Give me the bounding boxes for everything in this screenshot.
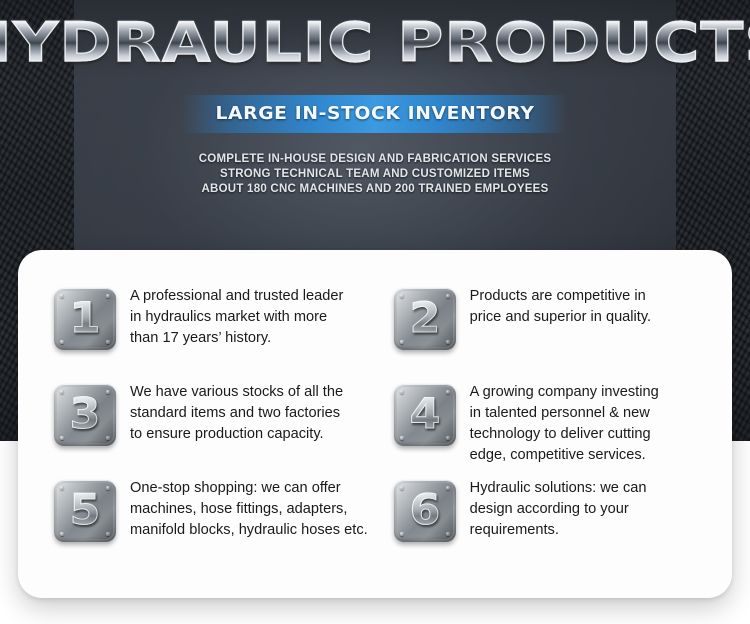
feature-text: One-stop shopping: we can offer machines… [130, 476, 368, 541]
feature-text: A growing company investing in talented … [470, 380, 659, 466]
number-plate-icon: 1 [54, 288, 116, 350]
features-card: 1 A professional and trusted leader in h… [18, 250, 732, 598]
feature-text-line: edge, competitive services. [470, 445, 659, 466]
feature-text: Hydraulic solutions: we can design accor… [470, 476, 647, 541]
inventory-stripe: LARGE IN-STOCK INVENTORY [182, 95, 568, 133]
feature-text-line: manifold blocks, hydraulic hoses etc. [130, 520, 368, 541]
subtitle-line: ABOUT 180 CNC MACHINES AND 200 TRAINED E… [0, 182, 750, 197]
feature-item: 4 A growing company investing in talente… [394, 380, 696, 470]
feature-text-line: design according to your [470, 499, 647, 520]
hydraulic-products-banner: HYDRAULIC PRODUCTS LARGE IN-STOCK INVENT… [0, 0, 750, 624]
feature-item: 6 Hydraulic solutions: we can design acc… [394, 476, 696, 566]
plate-number: 5 [52, 480, 117, 542]
plate-number: 2 [392, 288, 457, 350]
subtitle-line: STRONG TECHNICAL TEAM AND CUSTOMIZED ITE… [0, 167, 750, 182]
feature-text-line: One-stop shopping: we can offer [130, 478, 368, 499]
feature-item: 3 We have various stocks of all the stan… [54, 380, 368, 470]
feature-item: 2 Products are competitive in price and … [394, 284, 696, 374]
plate-number: 6 [392, 480, 457, 542]
feature-text-line: machines, hose fittings, adapters, [130, 499, 368, 520]
number-plate-icon: 5 [54, 480, 116, 542]
feature-text-line: to ensure production capacity. [130, 424, 343, 445]
number-plate-icon: 4 [394, 384, 456, 446]
feature-text: Products are competitive in price and su… [470, 284, 651, 328]
page-title: HYDRAULIC PRODUCTS [0, 14, 750, 72]
feature-item: 5 One-stop shopping: we can offer machin… [54, 476, 368, 566]
number-plate-icon: 3 [54, 384, 116, 446]
number-plate-icon: 2 [394, 288, 456, 350]
feature-text-line: standard items and two factories [130, 403, 343, 424]
feature-text-line: price and superior in quality. [470, 307, 651, 328]
number-plate-icon: 6 [394, 480, 456, 542]
plate-number: 4 [392, 384, 457, 446]
feature-text-line: A professional and trusted leader [130, 286, 343, 307]
inventory-stripe-label: LARGE IN-STOCK INVENTORY [174, 95, 575, 133]
feature-text-line: requirements. [470, 520, 647, 541]
plate-number: 1 [52, 288, 117, 350]
feature-text-line: A growing company investing [470, 382, 659, 403]
feature-text-line: We have various stocks of all the [130, 382, 343, 403]
feature-text-line: Hydraulic solutions: we can [470, 478, 647, 499]
feature-text-line: Products are competitive in [470, 286, 651, 307]
feature-text: We have various stocks of all the standa… [130, 380, 343, 445]
feature-text-line: technology to deliver cutting [470, 424, 659, 445]
plate-number: 3 [52, 384, 117, 446]
feature-item: 1 A professional and trusted leader in h… [54, 284, 368, 374]
feature-text-line: in talented personnel & new [470, 403, 659, 424]
feature-text: A professional and trusted leader in hyd… [130, 284, 343, 349]
subtitle-line: COMPLETE IN-HOUSE DESIGN AND FABRICATION… [0, 152, 750, 167]
feature-text-line: in hydraulics market with more [130, 307, 343, 328]
features-grid: 1 A professional and trusted leader in h… [54, 284, 696, 566]
feature-text-line: than 17 years’ history. [130, 328, 343, 349]
subtitle-block: COMPLETE IN-HOUSE DESIGN AND FABRICATION… [0, 152, 750, 197]
